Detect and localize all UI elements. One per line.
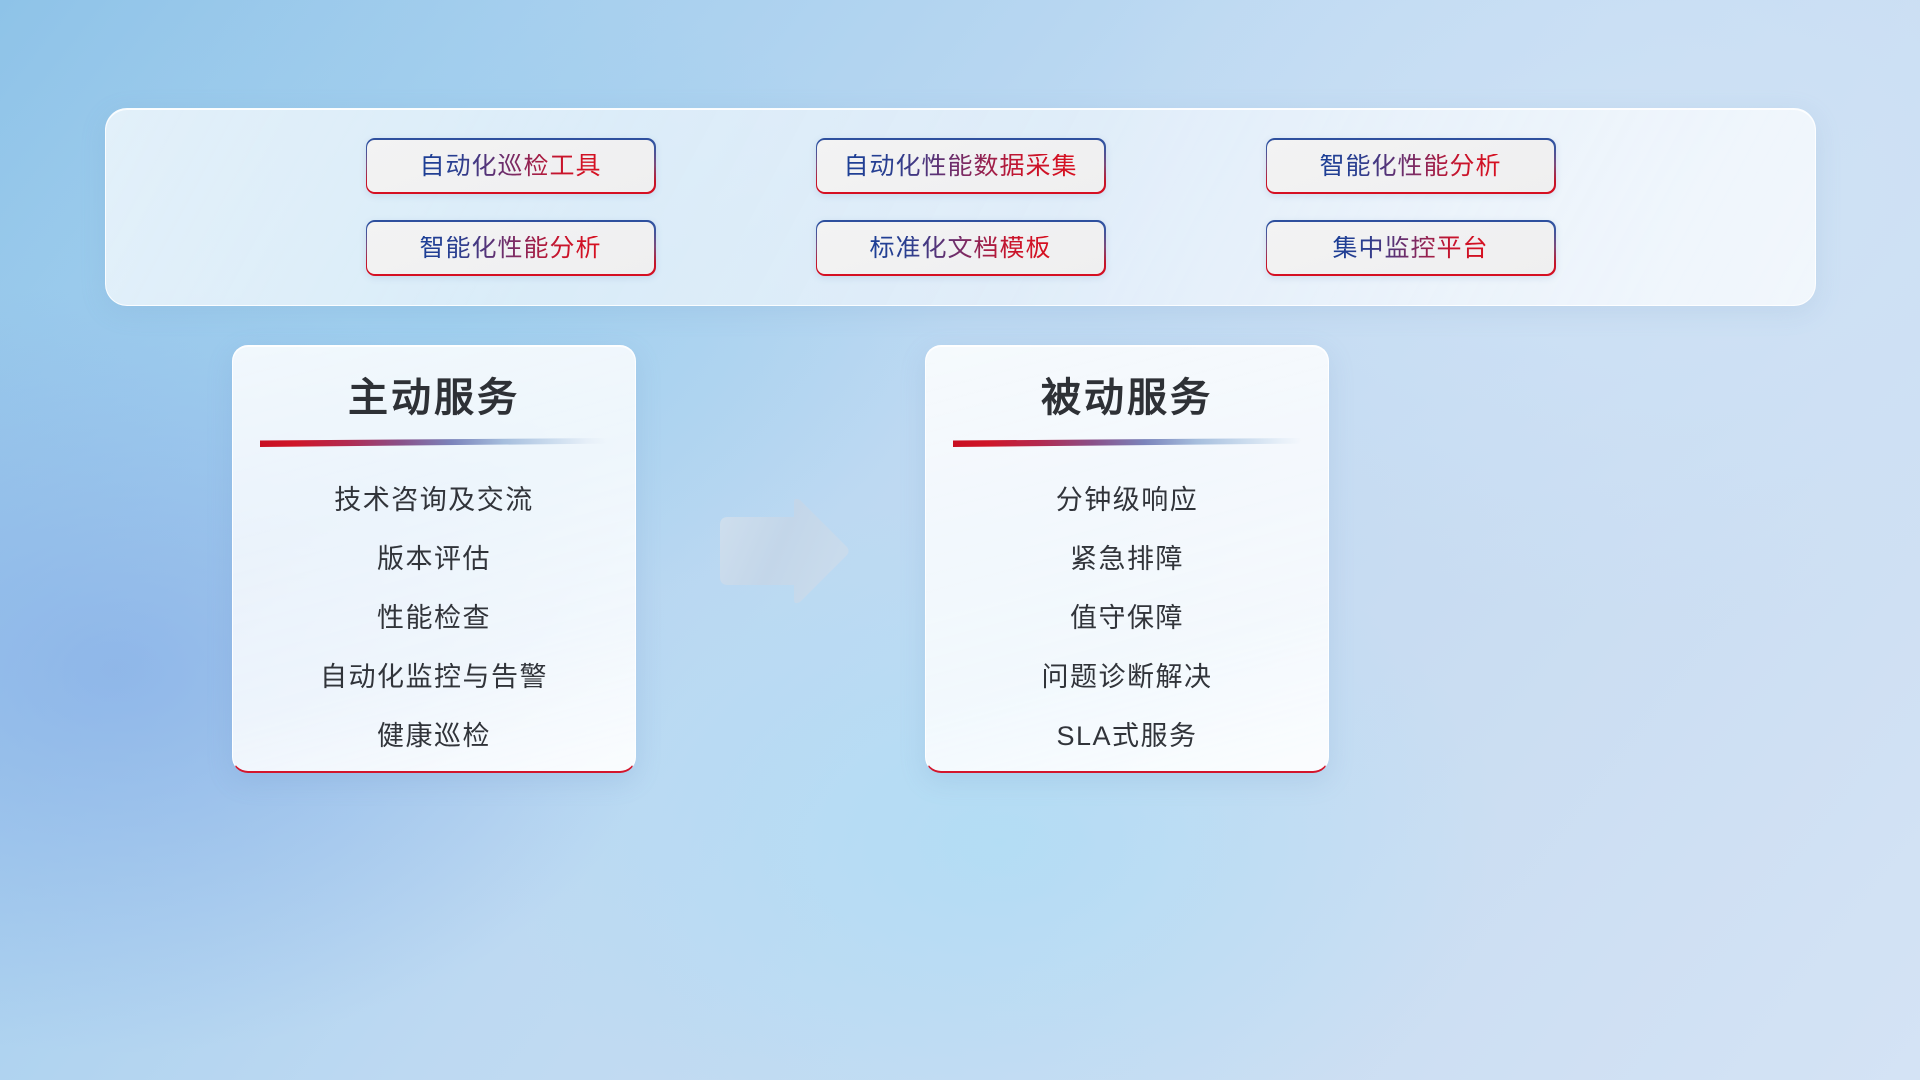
card-list-item: 分钟级响应 xyxy=(1056,471,1199,530)
service-card-active[interactable]: 主动服务 技术咨询及交流 版本评估 性能检查 自动化监控与告警 健康巡检 xyxy=(232,345,636,773)
capability-pill[interactable]: 标准化文档模板 xyxy=(816,220,1106,276)
capability-pill-label: 自动化性能数据采集 xyxy=(843,154,1077,179)
card-list-item: 问题诊断解决 xyxy=(1042,648,1213,707)
capability-pill-inner: 智能化性能分析 xyxy=(1267,140,1554,193)
capability-pill-inner: 智能化性能分析 xyxy=(367,222,654,275)
card-list-item: 健康巡检 xyxy=(377,707,491,766)
card-title: 被动服务 xyxy=(1041,374,1213,422)
capability-pill[interactable]: 智能化性能分析 xyxy=(366,220,656,276)
service-card-passive[interactable]: 被动服务 分钟级响应 紧急排障 值守保障 问题诊断解决 SLA式服务 xyxy=(925,345,1329,773)
capability-pill-grid: 自动化巡检工具 自动化性能数据采集 智能化性能分析 智能化性能分析 xyxy=(366,138,1556,276)
capability-pill[interactable]: 集中监控平台 xyxy=(1266,220,1556,276)
capability-pill[interactable]: 智能化性能分析 xyxy=(1266,138,1556,194)
card-list-item: 自动化监控与告警 xyxy=(320,648,548,707)
capability-pill-label: 自动化巡检工具 xyxy=(419,154,601,179)
capability-pill[interactable]: 自动化巡检工具 xyxy=(366,138,656,194)
card-divider xyxy=(953,438,1301,447)
card-divider xyxy=(260,438,608,447)
card-item-list: 分钟级响应 紧急排障 值守保障 问题诊断解决 SLA式服务 xyxy=(926,471,1328,766)
capability-pill-label: 集中监控平台 xyxy=(1332,236,1488,261)
capability-pill[interactable]: 自动化性能数据采集 xyxy=(816,138,1106,194)
card-list-item: 版本评估 xyxy=(377,530,491,589)
capabilities-panel: 自动化巡检工具 自动化性能数据采集 智能化性能分析 智能化性能分析 xyxy=(105,108,1816,306)
card-item-list: 技术咨询及交流 版本评估 性能检查 自动化监控与告警 健康巡检 xyxy=(233,471,635,766)
card-list-item: 技术咨询及交流 xyxy=(334,471,534,530)
card-list-item: 紧急排障 xyxy=(1070,530,1184,589)
capability-pill-label: 智能化性能分析 xyxy=(1319,154,1501,179)
capability-pill-label: 标准化文档模板 xyxy=(869,236,1051,261)
card-list-item: 值守保障 xyxy=(1070,589,1184,648)
capability-pill-inner: 标准化文档模板 xyxy=(817,222,1104,275)
right-arrow-icon xyxy=(712,497,852,605)
capability-pill-label: 智能化性能分析 xyxy=(419,236,601,261)
capability-pill-inner: 集中监控平台 xyxy=(1267,222,1554,275)
capability-pill-inner: 自动化巡检工具 xyxy=(367,140,654,193)
card-title: 主动服务 xyxy=(348,374,520,422)
capability-pill-inner: 自动化性能数据采集 xyxy=(817,140,1104,193)
slide-canvas: 自动化巡检工具 自动化性能数据采集 智能化性能分析 智能化性能分析 xyxy=(0,0,1920,1080)
card-list-item: SLA式服务 xyxy=(1056,707,1197,766)
card-list-item: 性能检查 xyxy=(377,589,491,648)
